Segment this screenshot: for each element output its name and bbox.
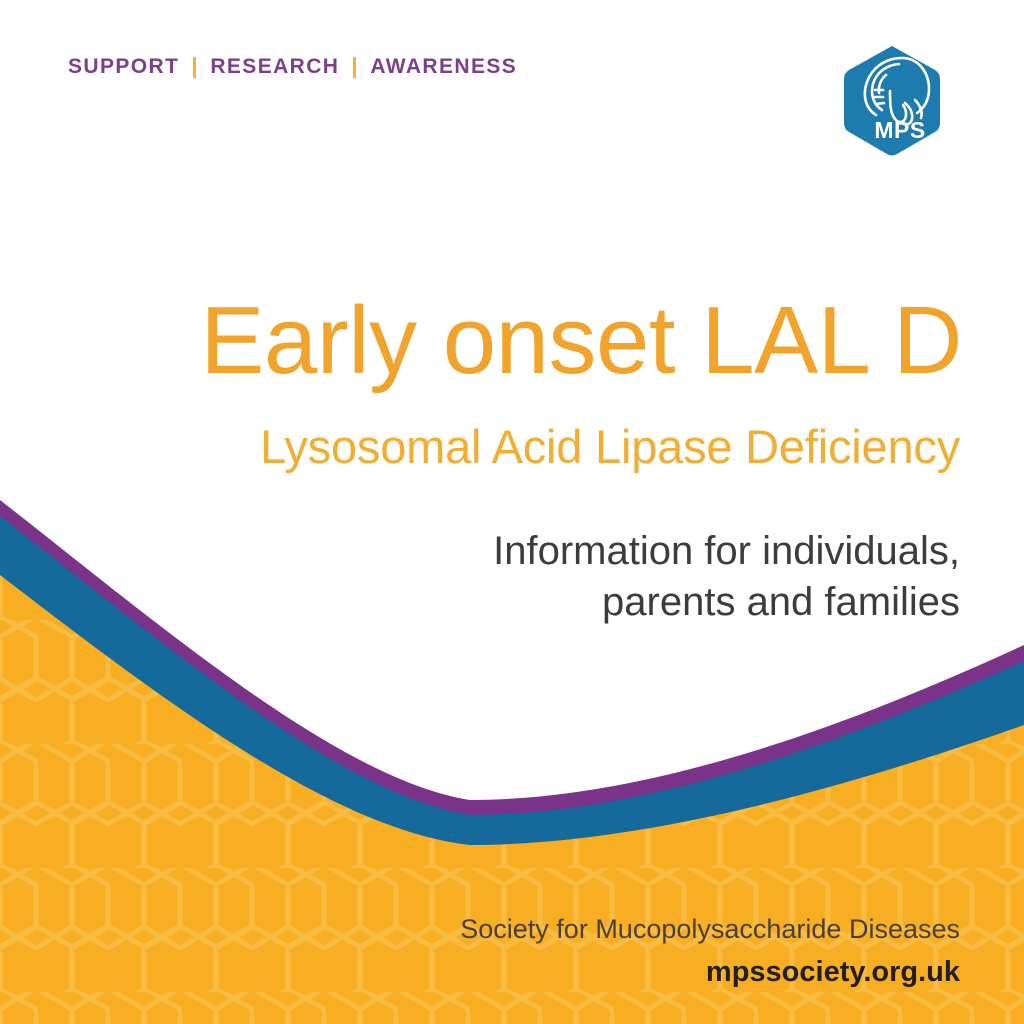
audience-text: Information for individuals, parents and… (0, 526, 960, 628)
tagline-item-support: SUPPORT (68, 55, 179, 79)
tagline-item-research: RESEARCH (210, 55, 339, 79)
page-subtitle: Lysosomal Acid Lipase Deficiency (0, 423, 960, 470)
audience-line-1: Information for individuals, (0, 526, 960, 577)
tagline: SUPPORT RESEARCH AWARENESS (68, 55, 517, 79)
mps-logo: MPS (841, 45, 943, 157)
tagline-separator-icon (353, 57, 356, 78)
brochure-cover: SUPPORT RESEARCH AWARENESS MPS E (0, 0, 1024, 1024)
organisation-name: Society for Mucopolysaccharide Diseases (0, 911, 960, 947)
website-url[interactable]: mpssociety.org.uk (0, 953, 960, 992)
footer: Society for Mucopolysaccharide Diseases … (0, 911, 960, 993)
tagline-separator-icon (193, 57, 196, 78)
audience-line-2: parents and families (0, 577, 960, 628)
page-title: Early onset LAL D (0, 293, 962, 389)
tagline-item-awareness: AWARENESS (370, 55, 517, 79)
logo-wordmark: MPS (874, 117, 925, 143)
